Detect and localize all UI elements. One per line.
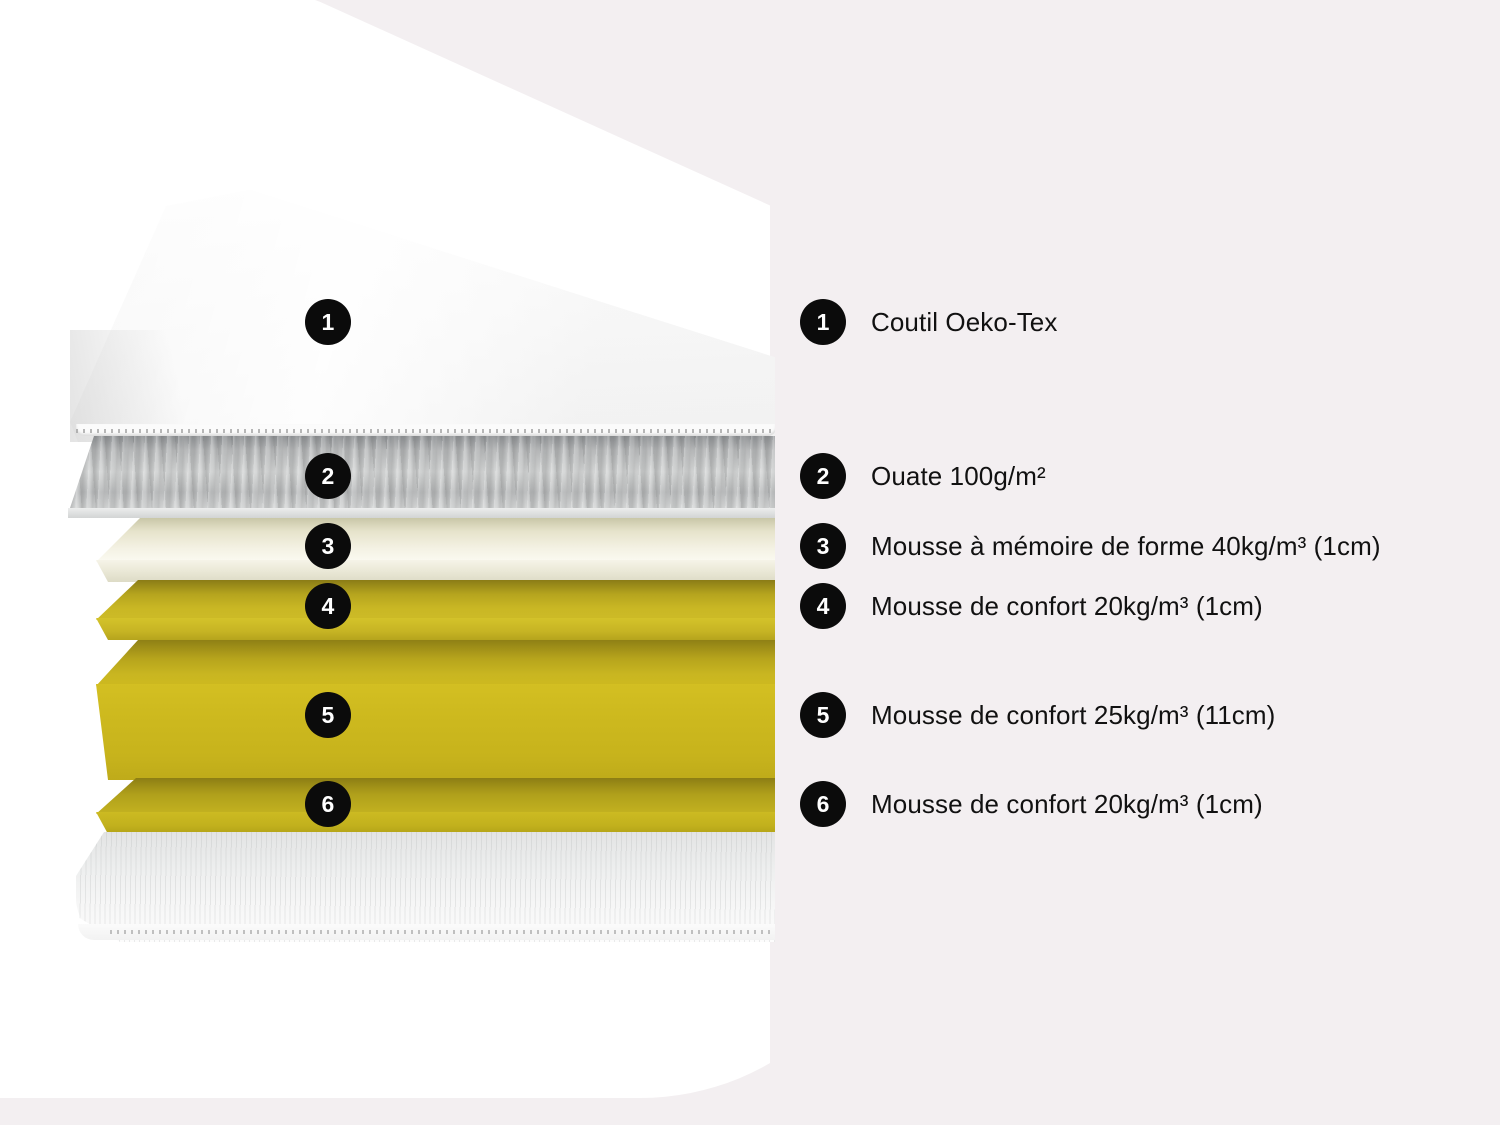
legend-badge-3: 3	[800, 523, 846, 569]
legend-badge-4: 4	[800, 583, 846, 629]
layer-5-comfort-foam-top	[96, 640, 775, 686]
stack-badge-3: 3	[305, 523, 351, 569]
layer-3-memory-foam-top	[96, 518, 775, 562]
layer-6-comfort-foam-top	[96, 778, 775, 814]
layer-4-comfort-foam-face	[96, 618, 775, 640]
layer-3-memory-foam-face	[96, 560, 775, 582]
legend-item-2: 2 Ouate 100g/m²	[800, 453, 1046, 499]
legend-label-2: Ouate 100g/m²	[871, 461, 1046, 492]
mattress-stack: 1 2 3 4 5 6	[0, 0, 775, 1125]
legend-label-5: Mousse de confort 25kg/m³ (11cm)	[871, 700, 1275, 731]
legend-item-3: 3 Mousse à mémoire de forme 40kg/m³ (1cm…	[800, 523, 1381, 569]
legend-label-6: Mousse de confort 20kg/m³ (1cm)	[871, 789, 1263, 820]
legend-badge-6: 6	[800, 781, 846, 827]
legend-item-6: 6 Mousse de confort 20kg/m³ (1cm)	[800, 781, 1263, 827]
stack-badge-5: 5	[305, 692, 351, 738]
stack-badge-1: 1	[305, 299, 351, 345]
legend-item-5: 5 Mousse de confort 25kg/m³ (11cm)	[800, 692, 1275, 738]
layer-1-stitching	[76, 429, 775, 433]
layer-2-fibre-texture	[68, 436, 775, 514]
legend-label-3: Mousse à mémoire de forme 40kg/m³ (1cm)	[871, 531, 1381, 562]
legend-badge-2: 2	[800, 453, 846, 499]
layer-4-comfort-foam-top	[96, 580, 775, 620]
legend: 1 Coutil Oeko-Tex 2 Ouate 100g/m² 3 Mous…	[800, 0, 1460, 1125]
legend-badge-5: 5	[800, 692, 846, 738]
base-cover-stitching	[110, 930, 775, 934]
legend-label-4: Mousse de confort 20kg/m³ (1cm)	[871, 591, 1263, 622]
stack-badge-2: 2	[305, 453, 351, 499]
layer-2-bottom-edge	[68, 508, 775, 518]
legend-item-4: 4 Mousse de confort 20kg/m³ (1cm)	[800, 583, 1263, 629]
layer-6-comfort-foam-face	[96, 812, 775, 834]
mattress-layers-infographic: 1 2 3 4 5 6 1 Coutil Oeko-Tex 2 Ouate 10…	[0, 0, 1500, 1125]
stack-badge-6: 6	[305, 781, 351, 827]
legend-badge-1: 1	[800, 299, 846, 345]
legend-label-1: Coutil Oeko-Tex	[871, 307, 1057, 338]
layer-5-comfort-foam-face	[96, 684, 775, 780]
legend-item-1: 1 Coutil Oeko-Tex	[800, 299, 1057, 345]
stack-badge-4: 4	[305, 583, 351, 629]
